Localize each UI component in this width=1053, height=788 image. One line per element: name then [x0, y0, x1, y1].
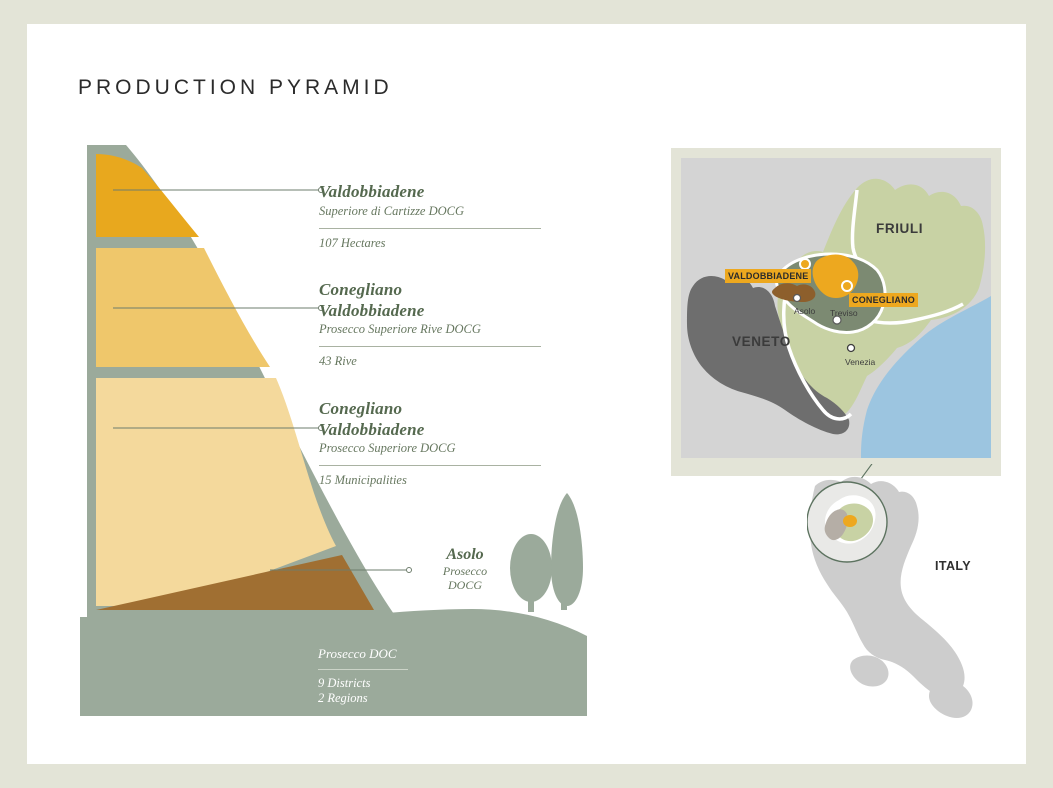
map-chip-valdobbiadene[interactable]: VALDOBBIADENE [725, 269, 811, 283]
callout-cartizze-title: Valdobbiadene [319, 182, 541, 203]
map-label-veneto: VENETO [732, 334, 791, 349]
locator-highlight-area [843, 515, 857, 527]
callout-asolo-title: Asolo [419, 545, 511, 564]
map-label-friuli: FRIULI [876, 221, 923, 236]
poster-page: PRODUCTION PYRAMID [27, 24, 1026, 764]
city-dot-valdobbiadene [800, 259, 810, 269]
callout-superiore-subtitle: Prosecco Superiore DOCG [319, 441, 541, 456]
callout-rive-subtitle: Prosecco Superiore Rive DOCG [319, 322, 541, 337]
callout-rive-title-line1: Conegliano [319, 280, 541, 301]
callout-superiore-title-line1: Conegliano [319, 399, 541, 420]
map-city-label-venezia: Venezia [845, 357, 875, 367]
callout-divider [319, 465, 541, 466]
city-dot-venezia [848, 345, 855, 352]
pyramid-tier-cartizze [96, 154, 199, 237]
map-label-italy: ITALY [935, 559, 971, 573]
callout-asolo-subtitle-line2: DOCG [419, 578, 511, 592]
page-title: PRODUCTION PYRAMID [78, 76, 393, 100]
callout-cartizze: Valdobbiadene Superiore di Cartizze DOCG… [319, 182, 541, 251]
callout-superiore-title-line2: Valdobbiadene [319, 420, 541, 441]
map-city-label-asolo: Asolo [794, 306, 815, 316]
locator-magnifier [807, 482, 887, 562]
callout-doc-stat-line2: 2 Regions [318, 691, 496, 706]
city-dot-asolo [794, 295, 801, 302]
map-city-label-treviso: Treviso [830, 308, 858, 318]
callout-superiore: Conegliano Valdobbiadene Prosecco Superi… [319, 399, 541, 488]
callout-superiore-stat: 15 Municipalities [319, 473, 541, 488]
callout-divider [318, 669, 408, 670]
callout-asolo: Asolo Prosecco DOCG [419, 545, 511, 592]
city-dot-conegliano [842, 281, 852, 291]
callout-cartizze-stat: 107 Hectares [319, 236, 541, 251]
callout-rive: Conegliano Valdobbiadene Prosecco Superi… [319, 280, 541, 369]
callout-doc-stat-line1: 9 Districts [318, 676, 496, 691]
italy-locator-map [807, 464, 1022, 729]
map-chip-conegliano[interactable]: CONEGLIANO [849, 293, 918, 307]
cypress-trees [510, 493, 583, 612]
callout-cartizze-subtitle: Superiore di Cartizze DOCG [319, 204, 541, 219]
callout-divider [319, 346, 541, 347]
callout-prosecco-doc: Prosecco DOC 9 Districts 2 Regions [318, 646, 496, 706]
callout-doc-title: Prosecco DOC [318, 646, 496, 662]
callout-asolo-subtitle-line1: Prosecco [419, 564, 511, 578]
callout-rive-title-line2: Valdobbiadene [319, 301, 541, 322]
callout-divider [319, 228, 541, 229]
callout-rive-stat: 43 Rive [319, 354, 541, 369]
